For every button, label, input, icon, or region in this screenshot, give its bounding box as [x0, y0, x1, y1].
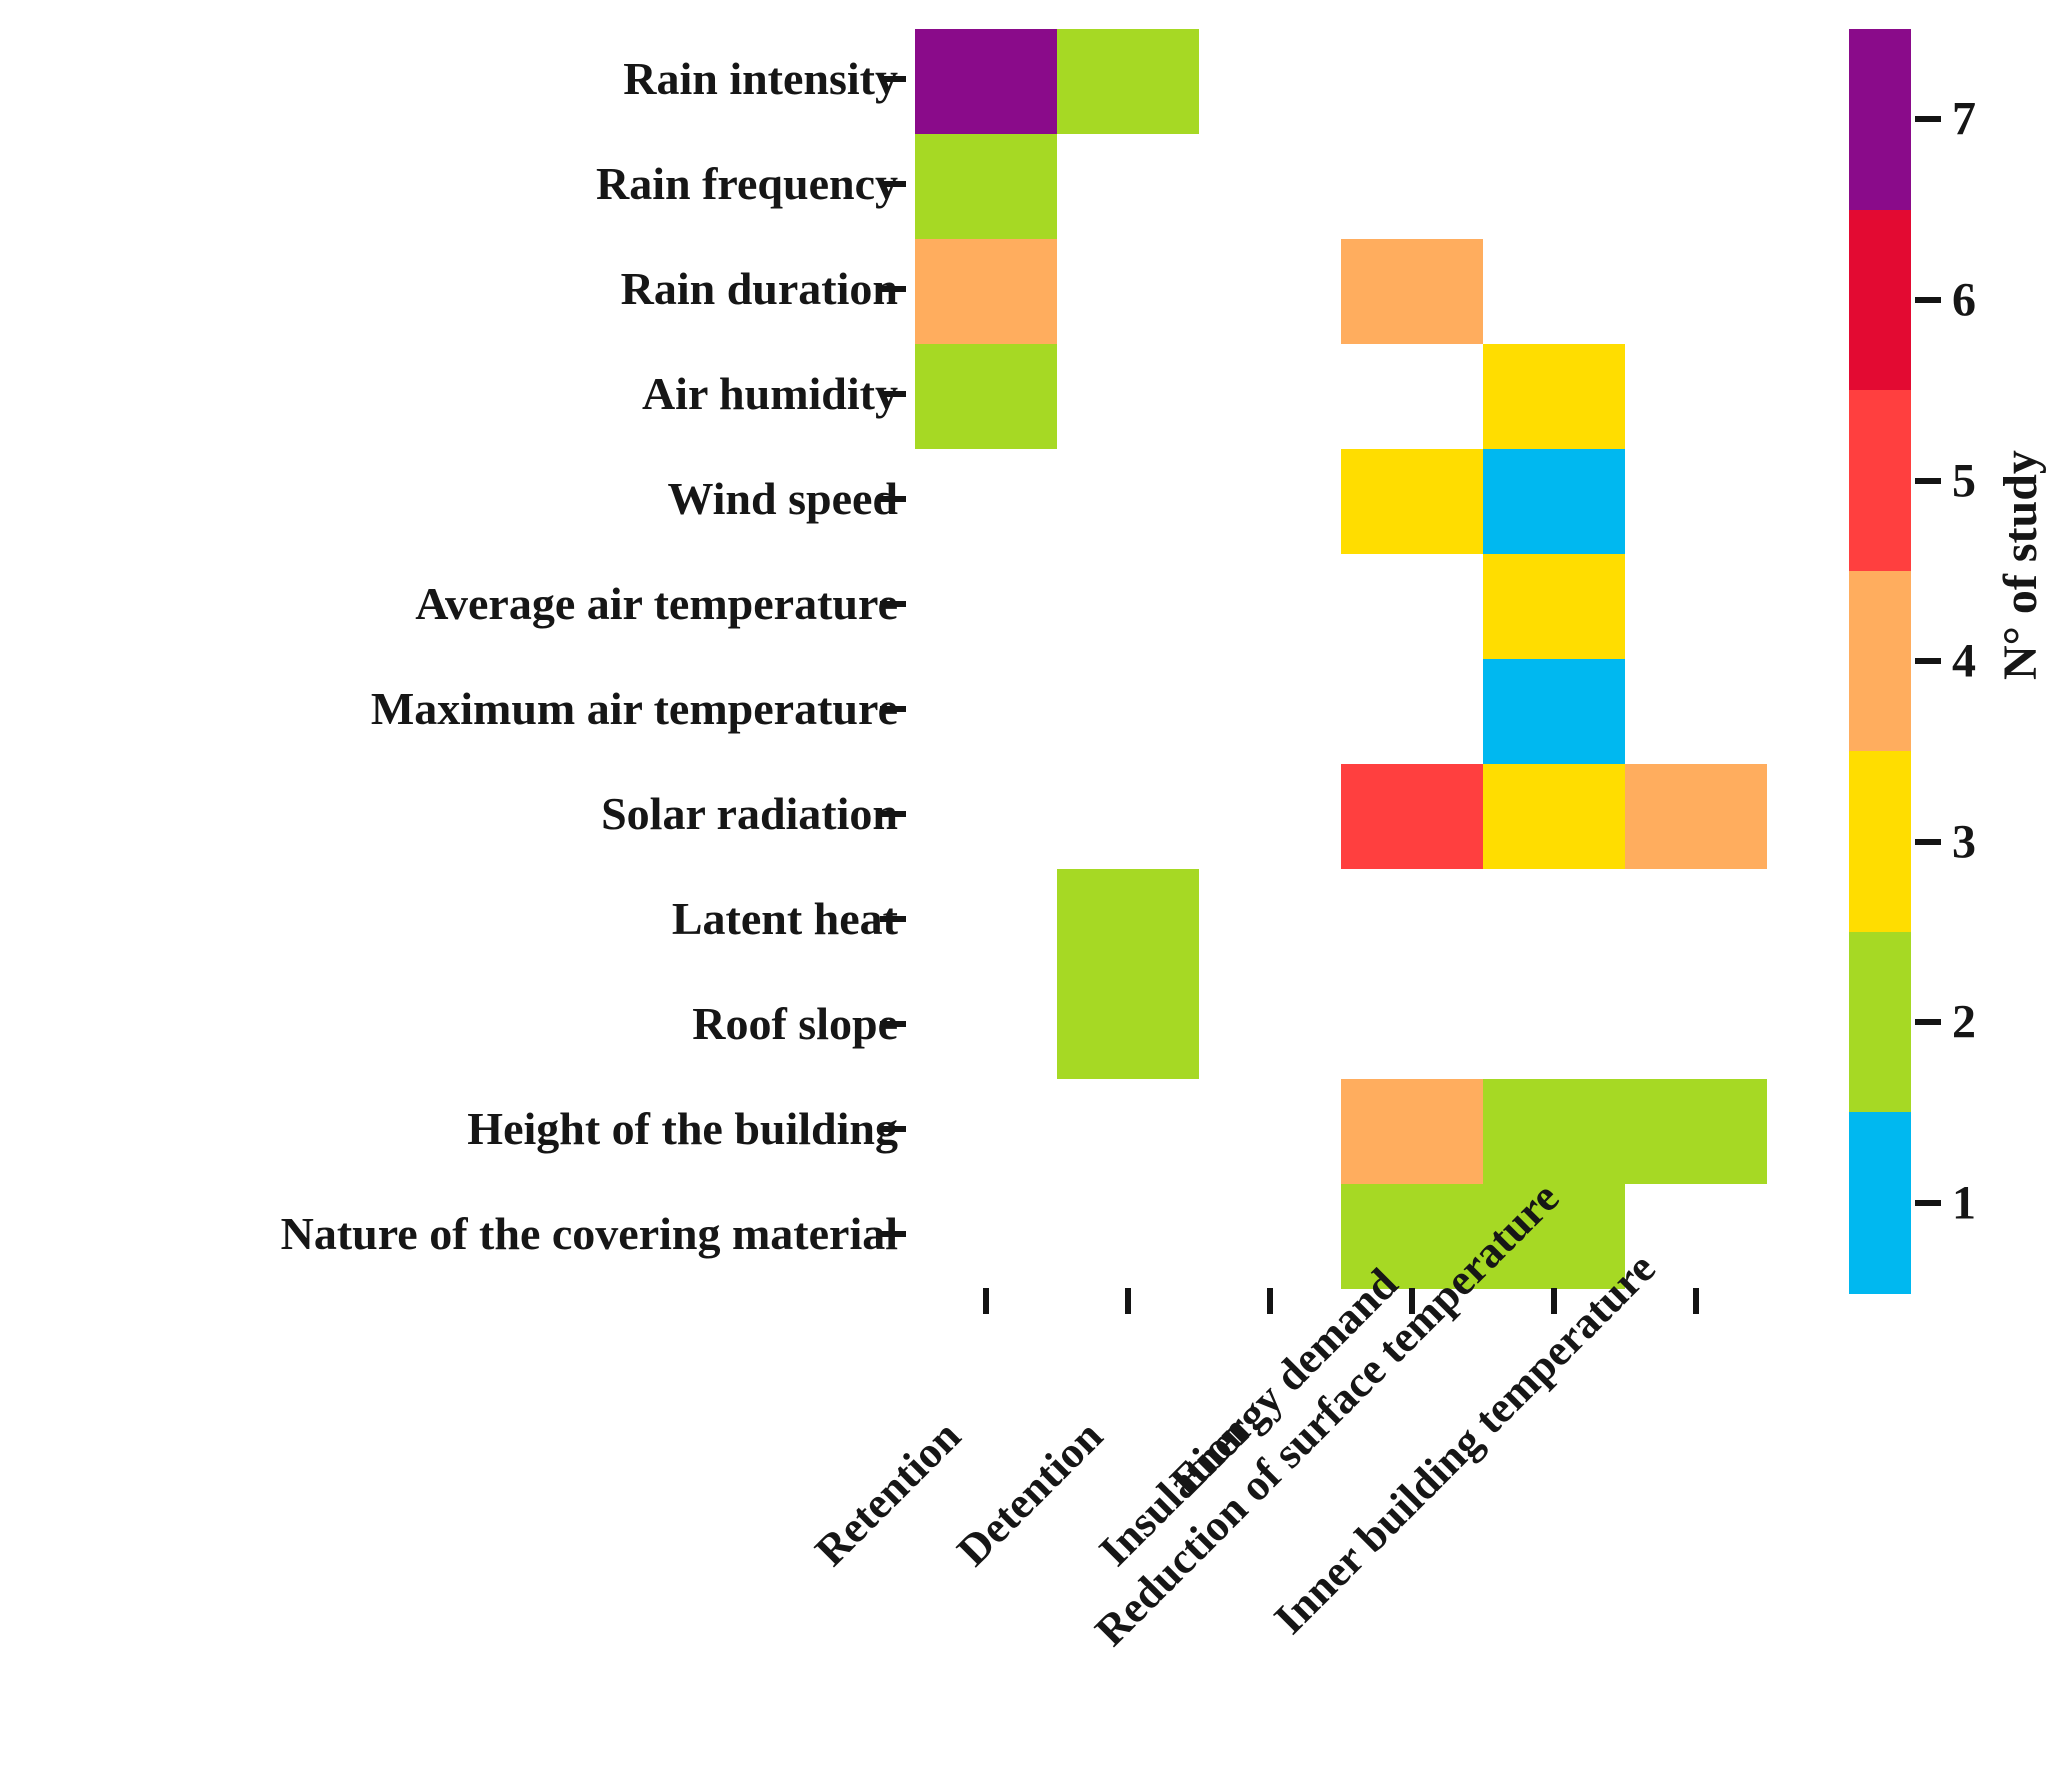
heatmap-cell	[1341, 764, 1483, 869]
colorbar-title: N° of study	[1993, 450, 2048, 680]
y-axis-tick-2	[880, 286, 906, 292]
colorbar-label-6: 6	[1952, 273, 1976, 328]
heatmap-cell	[1483, 344, 1625, 449]
heatmap-cell	[1483, 554, 1625, 659]
heatmap-cell	[1625, 1079, 1767, 1184]
x-axis-tick-0	[983, 1288, 989, 1314]
y-axis-label-0: Rain intensity	[623, 56, 898, 102]
x-axis-tick-5	[1693, 1288, 1699, 1314]
heatmap-cell	[1057, 974, 1199, 1079]
x-axis-label-1: Detention	[947, 1410, 1113, 1576]
y-axis-tick-7	[880, 811, 906, 817]
y-axis-label-11: Nature of the covering material	[281, 1211, 898, 1257]
colorbar-segment	[1849, 29, 1911, 211]
y-axis-label-8: Latent heat	[672, 896, 898, 942]
heatmap-cell	[1483, 1079, 1625, 1184]
heatmap-cell	[915, 344, 1057, 449]
y-axis-tick-9	[880, 1021, 906, 1027]
y-axis-label-6: Maximum air temperature	[371, 686, 898, 732]
y-axis-label-7: Solar radiation	[601, 791, 898, 837]
heatmap-cell	[1057, 869, 1199, 974]
y-axis-tick-8	[880, 916, 906, 922]
y-axis-tick-10	[880, 1126, 906, 1132]
y-axis-tick-3	[880, 391, 906, 397]
colorbar-tick-7	[1915, 116, 1941, 122]
heatmap-cell	[1057, 29, 1199, 134]
x-axis-label-0: Retention	[805, 1410, 971, 1576]
heatmap-cell	[1341, 239, 1483, 344]
colorbar-segment	[1849, 751, 1911, 933]
heatmap-cell	[1341, 449, 1483, 554]
y-axis-label-5: Average air temperature	[415, 581, 898, 627]
colorbar-label-4: 4	[1952, 634, 1976, 689]
heatmap-cell	[1483, 764, 1625, 869]
colorbar	[1849, 29, 1911, 1293]
y-axis-label-2: Rain duration	[621, 266, 898, 312]
colorbar-segment	[1849, 571, 1911, 753]
heatmap-cell	[1341, 1079, 1483, 1184]
x-axis-tick-2	[1267, 1288, 1273, 1314]
x-axis-tick-1	[1125, 1288, 1131, 1314]
colorbar-label-2: 2	[1952, 995, 1976, 1050]
colorbar-tick-2	[1915, 1019, 1941, 1025]
colorbar-segment	[1849, 1112, 1911, 1294]
y-axis-label-10: Height of the building	[467, 1106, 898, 1152]
y-axis-tick-11	[880, 1231, 906, 1237]
colorbar-tick-1	[1915, 1200, 1941, 1206]
heatmap-cell	[915, 29, 1057, 134]
colorbar-label-5: 5	[1952, 454, 1976, 509]
colorbar-label-3: 3	[1952, 815, 1976, 870]
y-axis-tick-6	[880, 706, 906, 712]
heatmap-cell	[915, 134, 1057, 239]
y-axis-label-3: Air humidity	[642, 371, 898, 417]
colorbar-label-7: 7	[1952, 92, 1976, 147]
colorbar-segment	[1849, 932, 1911, 1114]
y-axis-tick-4	[880, 496, 906, 502]
y-axis-label-9: Roof slope	[692, 1001, 898, 1047]
y-axis-tick-1	[880, 181, 906, 187]
y-axis-label-4: Wind speed	[667, 476, 898, 522]
heatmap-cell	[1483, 659, 1625, 764]
y-axis-tick-0	[880, 76, 906, 82]
heatmap-cell	[915, 239, 1057, 344]
y-axis-tick-5	[880, 601, 906, 607]
colorbar-segment	[1849, 210, 1911, 392]
heatmap-cell	[1483, 449, 1625, 554]
heatmap-cell	[1625, 764, 1767, 869]
colorbar-tick-5	[1915, 478, 1941, 484]
colorbar-tick-3	[1915, 839, 1941, 845]
colorbar-tick-6	[1915, 297, 1941, 303]
colorbar-segment	[1849, 390, 1911, 572]
heatmap-figure: Rain intensity Rain frequency Rain durat…	[0, 0, 2058, 1787]
x-axis-tick-4	[1551, 1288, 1557, 1314]
colorbar-label-1: 1	[1952, 1176, 1976, 1231]
colorbar-tick-4	[1915, 658, 1941, 664]
y-axis-label-1: Rain frequency	[596, 161, 898, 207]
